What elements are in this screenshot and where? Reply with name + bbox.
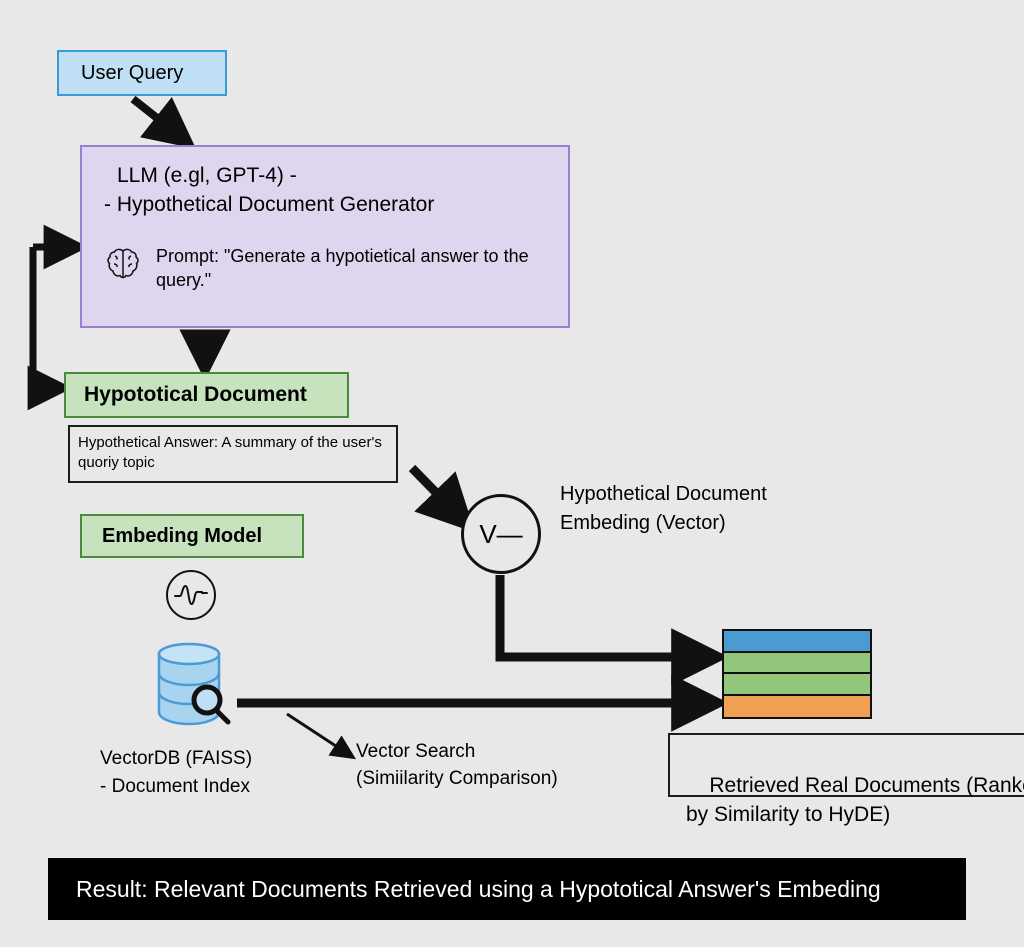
- arrow-user-query-to-llm: [133, 99, 176, 133]
- document-layer-4: [724, 696, 870, 718]
- vectordb-caption-line-2: - Document Index: [100, 773, 330, 801]
- vectordb-caption: VectorDB (FAISS) - Document Index: [100, 745, 330, 800]
- vector-glyph: V—: [479, 519, 522, 550]
- retrieved-document-stack: [722, 629, 872, 719]
- retrieved-documents-text: Retrieved Real Documents (Ranked by Simi…: [686, 774, 1024, 826]
- waveform-icon: [164, 568, 218, 622]
- document-layer-1: [724, 631, 870, 653]
- arrow-answer-to-vector: [412, 468, 455, 512]
- hypothetical-answer-note: Hypothetical Answer: A summary of the us…: [68, 425, 398, 483]
- vector-search-line-2: (Simiilarity Comparison): [356, 766, 606, 793]
- user-query-box[interactable]: User Query: [57, 50, 227, 96]
- diagram-canvas: User Query LLM (e.gl, GPT-4) - - Hypothe…: [0, 0, 1024, 947]
- embedding-model-box[interactable]: Embeding Model: [80, 514, 304, 558]
- vector-caption: Hypothetical Document Embeding (Vector): [560, 480, 790, 539]
- hypothetical-vector-node: V—: [461, 494, 541, 574]
- llm-prompt-text: Prompt: "Generate a hypotietical answer …: [156, 244, 550, 293]
- vectordb-caption-line-1: VectorDB (FAISS): [100, 745, 330, 773]
- result-banner: Result: Relevant Documents Retrieved usi…: [48, 858, 966, 920]
- arrow-feedback-loop: [33, 247, 66, 388]
- retrieved-documents-box: Retrieved Real Documents (Ranked by Simi…: [668, 733, 1024, 797]
- llm-prompt-row: Prompt: "Generate a hypotietical answer …: [104, 244, 550, 293]
- vector-caption-text: Hypothetical Document Embeding (Vector): [560, 483, 767, 534]
- document-layer-3: [724, 674, 870, 696]
- document-layer-2: [724, 653, 870, 675]
- hypothetical-document-box[interactable]: Hypototical Document: [64, 372, 349, 418]
- vector-search-caption: Vector Search (Simiilarity Comparison): [356, 739, 606, 793]
- brain-icon: [104, 246, 142, 282]
- embedding-model-label: Embeding Model: [102, 525, 262, 548]
- database-search-icon[interactable]: [145, 640, 241, 730]
- hypothetical-answer-text: Hypothetical Answer: A summary of the us…: [78, 434, 382, 471]
- llm-title-line-1: LLM (e.gl, GPT-4) -: [104, 163, 550, 190]
- llm-title-line-2: - Hypothetical Document Generator: [104, 192, 550, 219]
- user-query-label: User Query: [81, 62, 183, 85]
- result-banner-text: Result: Relevant Documents Retrieved usi…: [76, 876, 881, 903]
- vector-search-line-1: Vector Search: [356, 739, 606, 766]
- hypothetical-document-label: Hypototical Document: [84, 383, 307, 407]
- arrow-vector-to-document-stack: [500, 575, 700, 657]
- llm-generator-panel[interactable]: LLM (e.gl, GPT-4) - - Hypothetical Docum…: [80, 145, 570, 328]
